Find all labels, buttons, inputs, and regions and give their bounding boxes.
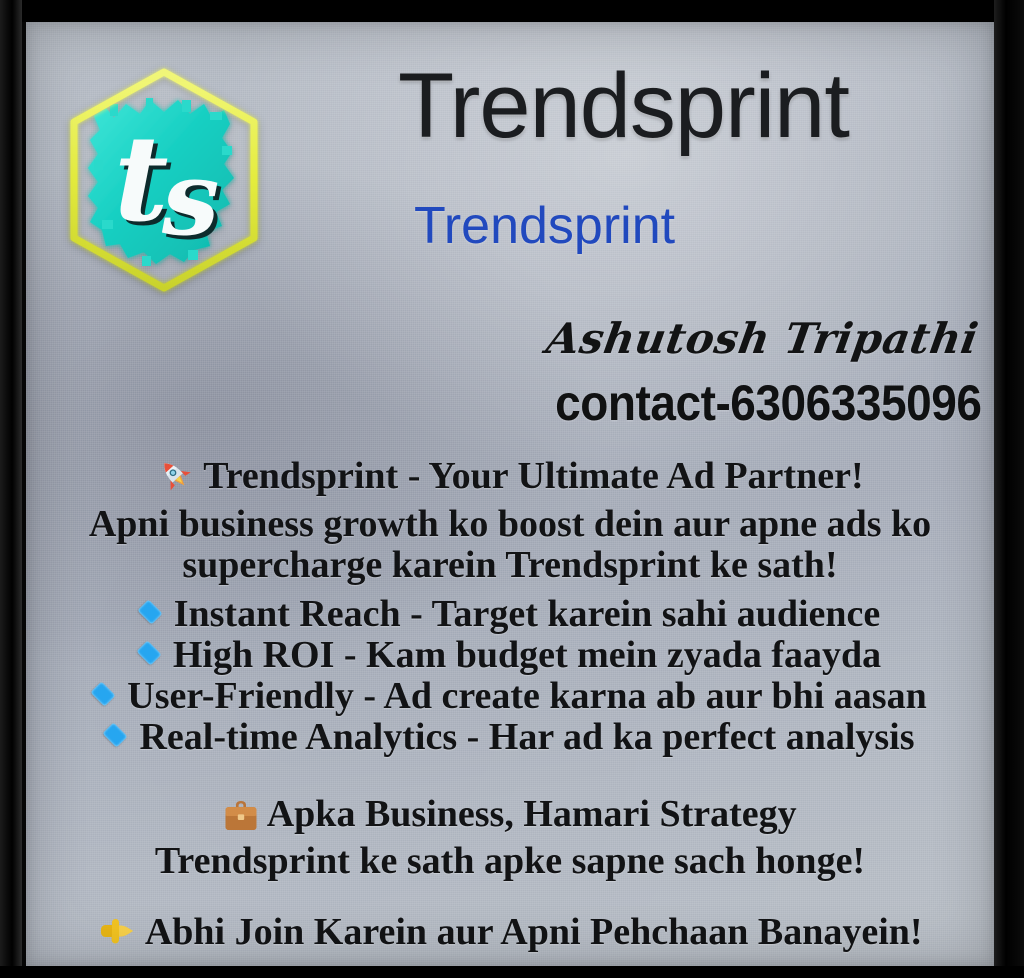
closing-row-2: Trendsprint ke sath apke sapne sach hong… [26,841,994,882]
svg-text:t: t [114,109,169,248]
page-title: Trendsprint [398,60,849,152]
bezel-right [994,0,1024,978]
photo-frame: t s t s Trendsprint Trendsprint Ashutosh… [0,0,1024,978]
bezel-left [0,0,22,978]
headline-row: Trendsprint - Your Ultimate Ad Partner! [26,454,994,504]
bezel-bottom [0,966,1024,978]
cta-block: Abhi Join Karein aur Apni Pehchaan Banay… [26,912,994,959]
blue-diamond-bullet-icon [137,600,162,625]
list-item-label: Instant Reach - Target karein sahi audie… [174,593,881,635]
list-item: User-Friendly - Ad create karna ab aur b… [26,676,994,717]
list-item: Real-time Analytics - Har ad ka perfect … [26,717,994,758]
brand-subtitle: Trendsprint [414,200,675,252]
rocket-icon [156,456,194,504]
closing-row-1: Apka Business, Hamari Strategy [26,794,994,841]
list-item-label: User-Friendly - Ad create karna ab aur b… [127,675,926,717]
pointing-right-hand-icon [97,916,137,959]
blue-diamond-bullet-icon [136,641,161,666]
paragraph-line-1: Apni business growth ko boost dein aur a… [26,504,994,545]
contact-phone[interactable]: contact-6306335096 [556,378,982,428]
closing-block: Apka Business, Hamari Strategy Trendspri… [26,794,994,882]
svg-text:s: s [161,139,219,259]
blue-diamond-bullet-icon [103,723,128,748]
feature-list: Instant Reach - Target karein sahi audie… [26,594,994,758]
card-header: t s t s Trendsprint Trendsprint Ashutosh… [26,22,994,322]
bezel-top [0,0,1024,22]
briefcase-icon [223,799,259,841]
business-card-canvas: t s t s Trendsprint Trendsprint Ashutosh… [26,22,994,966]
paragraph-line-2: supercharge karein Trendsprint ke sath! [26,545,994,586]
cta-text: Abhi Join Karein aur Apni Pehchaan Banay… [145,911,923,953]
cta-row: Abhi Join Karein aur Apni Pehchaan Banay… [26,912,994,959]
body-copy: Trendsprint - Your Ultimate Ad Partner! … [26,454,994,758]
headline-text: Trendsprint - Your Ultimate Ad Partner! [203,455,863,497]
blue-diamond-bullet-icon [91,682,116,707]
signature-name: Ashutosh Tripathi [544,318,981,360]
closing-text-1: Apka Business, Hamari Strategy [267,793,797,835]
trendsprint-hexagon-logo-icon: t s t s [54,60,274,310]
list-item-label: Real-time Analytics - Har ad ka perfect … [139,716,914,758]
list-item: High ROI - Kam budget mein zyada faayda [26,635,994,676]
list-item: Instant Reach - Target karein sahi audie… [26,594,994,635]
list-item-label: High ROI - Kam budget mein zyada faayda [173,634,881,676]
